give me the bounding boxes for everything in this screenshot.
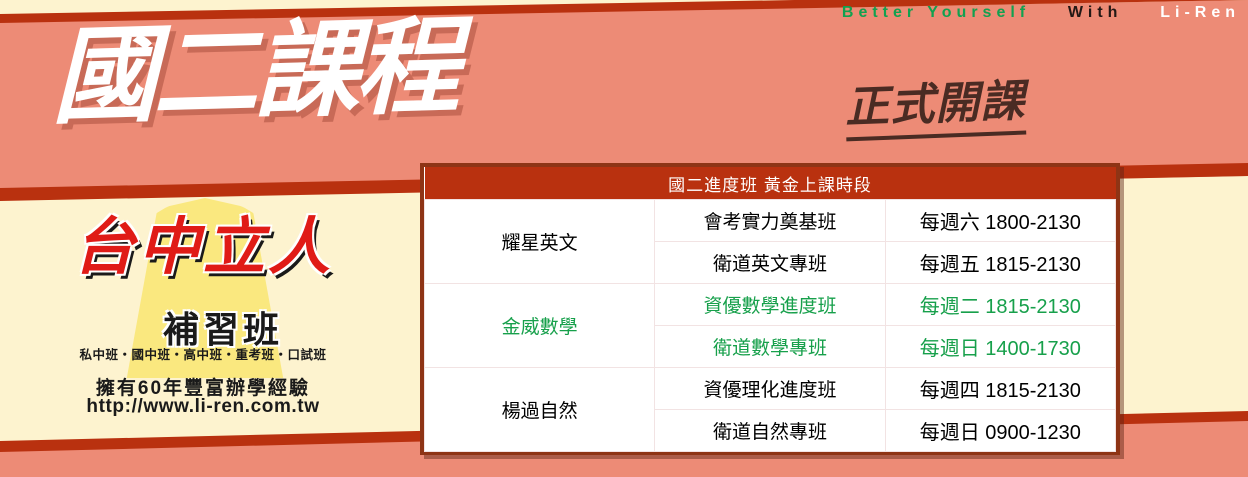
time-cell: 每週五 1815-2130 [885, 242, 1115, 284]
tagline-part3: Li-Ren [1160, 4, 1240, 21]
page-title: 國二課程 [52, 8, 456, 135]
course-cell: 資優理化進度班 [655, 368, 885, 410]
table-header-row: 國二進度班 黃金上課時段 [425, 167, 1116, 200]
subject-cell: 楊過自然 [425, 368, 655, 452]
subject-cell: 金威數學 [425, 284, 655, 368]
logo-website-url: http://www.li-ren.com.tw [28, 396, 378, 418]
time-cell: 每週二 1815-2130 [885, 284, 1115, 326]
tagline-part2: With [1068, 4, 1123, 21]
logo: 台中立人 補習班 私中班・國中班・高中班・重考班・口試班 擁有60年豐富辦學經驗… [28, 196, 378, 428]
table-row: 金威數學資優數學進度班每週二 1815-2130 [425, 284, 1116, 326]
time-cell: 每週日 0900-1230 [885, 410, 1115, 452]
table-row: 耀星英文會考實力奠基班每週六 1800-2130 [425, 200, 1116, 242]
logo-class-list: 私中班・國中班・高中班・重考班・口試班 [28, 344, 378, 363]
logo-name: 台中立人 [28, 214, 378, 279]
time-cell: 每週六 1800-2130 [885, 200, 1115, 242]
course-cell: 會考實力奠基班 [655, 200, 885, 242]
tagline-part1: Better Yourself [842, 4, 1030, 21]
tagline: Better Yourself With Li-Ren [640, 2, 1240, 24]
page-subtitle: 正式開課 [844, 65, 1027, 142]
time-cell: 每週四 1815-2130 [885, 368, 1115, 410]
schedule-header-title: 國二進度班 黃金上課時段 [425, 167, 1116, 200]
course-cell: 衛道數學專班 [655, 326, 885, 368]
schedule-table: 國二進度班 黃金上課時段 耀星英文會考實力奠基班每週六 1800-2130衛道英… [420, 163, 1120, 455]
course-cell: 衛道英文專班 [655, 242, 885, 284]
course-cell: 資優數學進度班 [655, 284, 885, 326]
course-cell: 衛道自然專班 [655, 410, 885, 452]
promotional-banner: Better Yourself With Li-Ren 國二課程 正式開課 台中… [0, 0, 1248, 477]
time-cell: 每週日 1400-1730 [885, 326, 1115, 368]
subject-cell: 耀星英文 [425, 200, 655, 284]
table-row: 楊過自然資優理化進度班每週四 1815-2130 [425, 368, 1116, 410]
